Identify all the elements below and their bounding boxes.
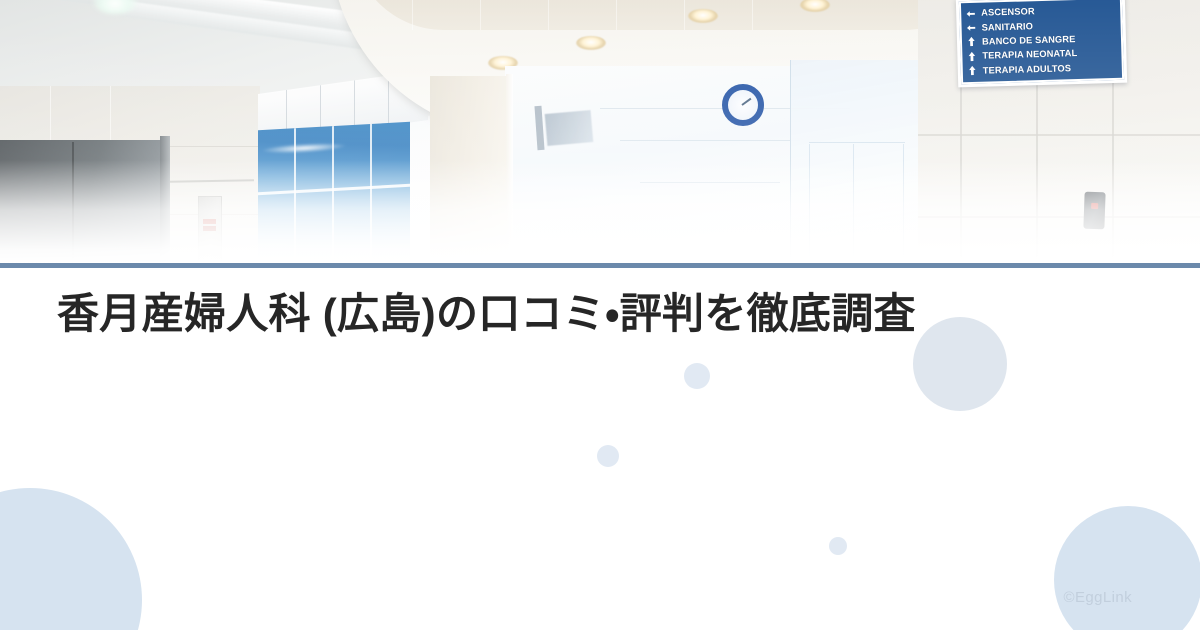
arrow-left-icon	[965, 22, 976, 33]
soffit-stone-band	[352, 0, 1012, 30]
wall-clock-icon	[722, 84, 764, 126]
sign-label: BANCO DE SANGRE	[982, 34, 1076, 47]
decorative-circle	[1054, 506, 1200, 630]
recessed-downlight-icon	[688, 9, 718, 23]
ogp-card: ASCENSOR SANITARIO BANCO DE SANGRE	[0, 0, 1200, 630]
sign-label: SANITARIO	[981, 21, 1033, 32]
sign-row: TERAPIA ADULTOS	[967, 59, 1117, 78]
hero-photo: ASCENSOR SANITARIO BANCO DE SANGRE	[0, 0, 1200, 264]
decorative-circle	[597, 445, 619, 467]
content-area: 香月産婦人科 (広島)の口コミ・評判を徹底調査 ©EggLink	[0, 268, 1200, 630]
interior-mullion	[620, 140, 800, 141]
recessed-downlight-icon	[576, 36, 606, 50]
elevator-door-gap	[72, 142, 74, 264]
directional-sign: ASCENSOR SANITARIO BANCO DE SANGRE	[956, 0, 1127, 87]
sign-label: ASCENSOR	[981, 6, 1035, 17]
elevator-doors	[0, 140, 163, 264]
arrow-left-icon	[965, 8, 976, 19]
sign-label: TERAPIA ADULTOS	[983, 63, 1072, 75]
interior-pillar	[430, 76, 510, 264]
page-title: 香月産婦人科 (広島)の口コミ・評判を徹底調査	[57, 289, 916, 339]
decorative-circle	[0, 488, 142, 630]
decorative-circle	[913, 317, 1007, 411]
elevator-door-frame	[160, 136, 170, 264]
sign-label: TERAPIA NEONATAL	[982, 48, 1077, 61]
arrow-up-icon	[967, 65, 978, 76]
blue-glass-wall	[258, 122, 410, 264]
elevator-call-panel	[198, 196, 222, 262]
decorative-circle	[829, 537, 847, 555]
arrow-up-icon	[966, 51, 977, 62]
arrow-up-icon	[966, 36, 977, 47]
pillar-edge-highlight	[506, 74, 513, 264]
card-reader	[1083, 192, 1105, 230]
glass-door-panel	[790, 60, 922, 264]
decorative-circle	[684, 363, 710, 389]
watermark: ©EggLink	[1064, 589, 1132, 606]
interior-mullion	[640, 182, 780, 183]
wall-monitor	[545, 110, 594, 146]
